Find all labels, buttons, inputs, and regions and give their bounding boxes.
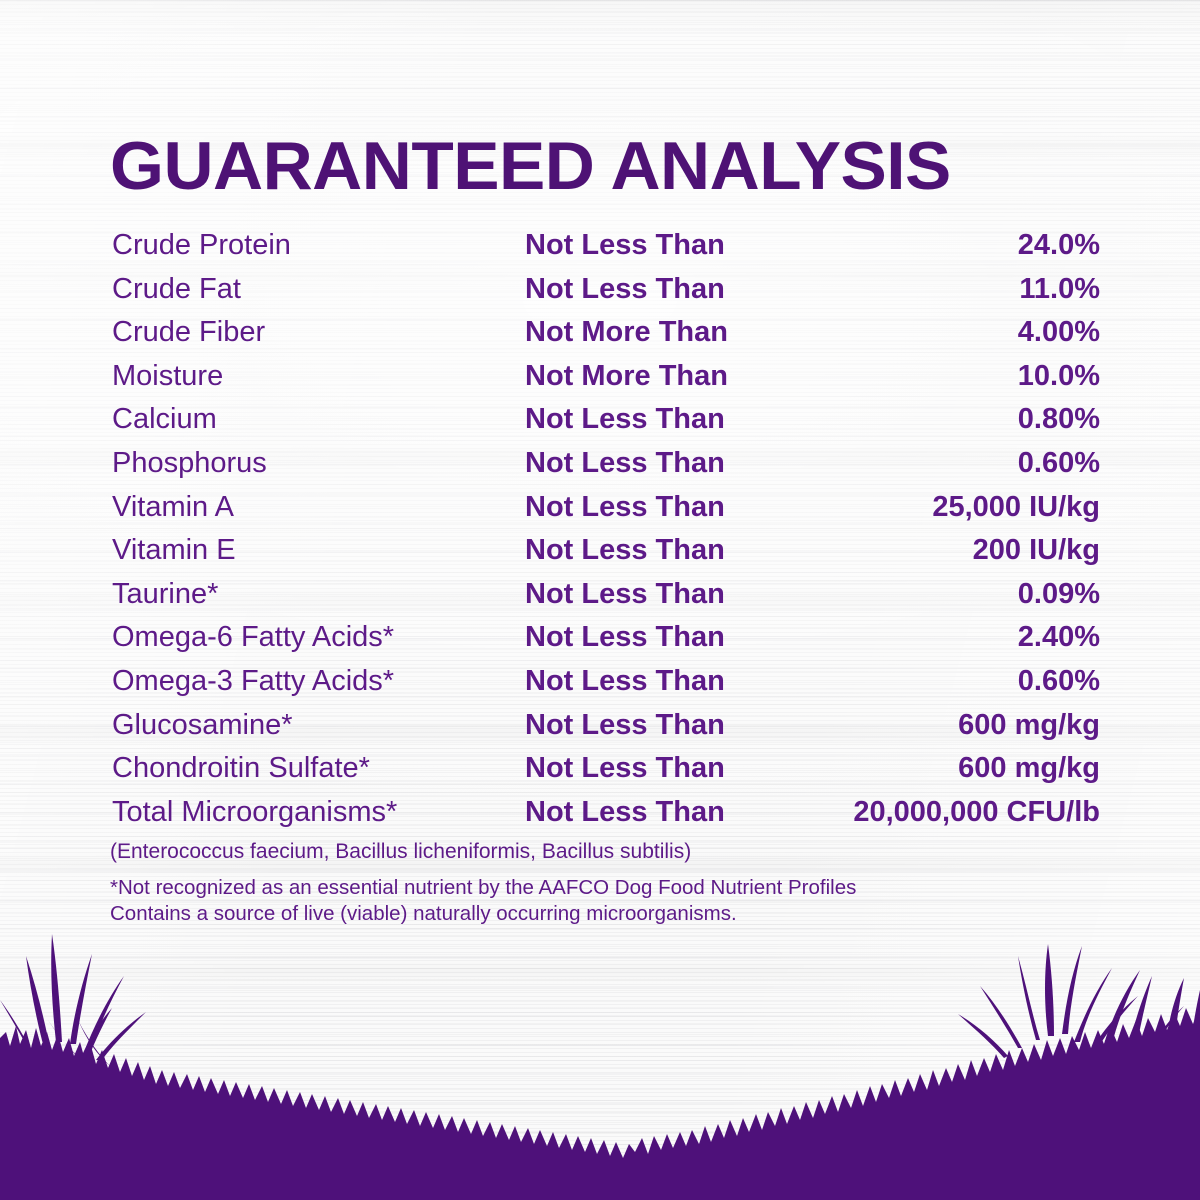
nutrient-name: Omega-3 Fatty Acids* (112, 664, 394, 698)
nutrient-qualifier: Not Less Than (525, 446, 725, 480)
footnote-aafco: *Not recognized as an essential nutrient… (110, 875, 856, 901)
nutrient-value: 2.40% (1018, 620, 1100, 654)
table-row: Glucosamine* Not Less Than 600 mg/kg (110, 708, 1100, 752)
nutrient-value: 10.0% (1018, 359, 1100, 393)
nutrient-name: Omega-6 Fatty Acids* (112, 620, 394, 654)
nutrient-name: Total Microorganisms* (112, 795, 397, 829)
nutrient-value: 600 mg/kg (958, 708, 1100, 742)
nutrient-name: Crude Fat (112, 272, 241, 306)
footnote-live-microorganisms: Contains a source of live (viable) natur… (110, 901, 856, 927)
microorganism-strain-note: (Enterococcus faecium, Bacillus lichenif… (110, 838, 691, 865)
table-row: Crude Fiber Not More Than 4.00% (110, 315, 1100, 359)
table-row: Moisture Not More Than 10.0% (110, 359, 1100, 403)
nutrient-value: 0.60% (1018, 664, 1100, 698)
nutrient-name: Vitamin E (112, 533, 236, 567)
nutrient-value: 0.60% (1018, 446, 1100, 480)
table-row: Vitamin E Not Less Than 200 IU/kg (110, 533, 1100, 577)
table-row: Omega-6 Fatty Acids* Not Less Than 2.40% (110, 620, 1100, 664)
nutrient-value: 0.09% (1018, 577, 1100, 611)
nutrient-name: Chondroitin Sulfate* (112, 751, 370, 785)
table-row: Crude Fat Not Less Than 11.0% (110, 272, 1100, 316)
nutrient-value: 11.0% (1019, 272, 1100, 306)
nutrient-qualifier: Not Less Than (525, 708, 725, 742)
page-title: GUARANTEED ANALYSIS (110, 132, 951, 200)
nutrient-name: Crude Protein (112, 228, 291, 262)
nutrient-qualifier: Not Less Than (525, 751, 725, 785)
nutrient-qualifier: Not Less Than (525, 664, 725, 698)
table-row: Vitamin A Not Less Than 25,000 IU/kg (110, 490, 1100, 534)
nutrient-qualifier: Not Less Than (525, 272, 725, 306)
table-row: Total Microorganisms* Not Less Than 20,0… (110, 795, 1100, 839)
nutrient-name: Vitamin A (112, 490, 234, 524)
nutrient-qualifier: Not More Than (525, 315, 728, 349)
table-row: Calcium Not Less Than 0.80% (110, 402, 1100, 446)
table-row: Phosphorus Not Less Than 0.60% (110, 446, 1100, 490)
nutrient-qualifier: Not Less Than (525, 620, 725, 654)
table-row: Omega-3 Fatty Acids* Not Less Than 0.60% (110, 664, 1100, 708)
nutrient-name: Crude Fiber (112, 315, 265, 349)
nutrient-value: 24.0% (1018, 228, 1100, 262)
table-row: Crude Protein Not Less Than 24.0% (110, 228, 1100, 272)
nutrient-qualifier: Not Less Than (525, 533, 725, 567)
nutrient-qualifier: Not Less Than (525, 490, 725, 524)
table-row: Chondroitin Sulfate* Not Less Than 600 m… (110, 751, 1100, 795)
nutrient-value: 20,000,000 CFU/lb (853, 795, 1100, 829)
nutrient-name: Calcium (112, 402, 217, 436)
nutrient-qualifier: Not Less Than (525, 228, 725, 262)
nutrient-value: 4.00% (1018, 315, 1100, 349)
nutrient-qualifier: Not More Than (525, 359, 728, 393)
nutrient-name: Phosphorus (112, 446, 267, 480)
nutrient-value: 0.80% (1018, 402, 1100, 436)
nutrient-value: 200 IU/kg (973, 533, 1100, 567)
footnotes: *Not recognized as an essential nutrient… (110, 875, 856, 927)
nutrient-name: Moisture (112, 359, 223, 393)
nutrient-qualifier: Not Less Than (525, 402, 725, 436)
table-row: Taurine* Not Less Than 0.09% (110, 577, 1100, 621)
nutrient-qualifier: Not Less Than (525, 795, 725, 829)
nutrient-value: 600 mg/kg (958, 751, 1100, 785)
nutrient-name: Taurine* (112, 577, 218, 611)
analysis-table: Crude Protein Not Less Than 24.0% Crude … (110, 228, 1100, 838)
nutrient-name: Glucosamine* (112, 708, 293, 742)
nutrient-value: 25,000 IU/kg (932, 490, 1100, 524)
guaranteed-analysis-label: GUARANTEED ANALYSIS Crude Protein Not Le… (0, 0, 1200, 1200)
nutrient-qualifier: Not Less Than (525, 577, 725, 611)
